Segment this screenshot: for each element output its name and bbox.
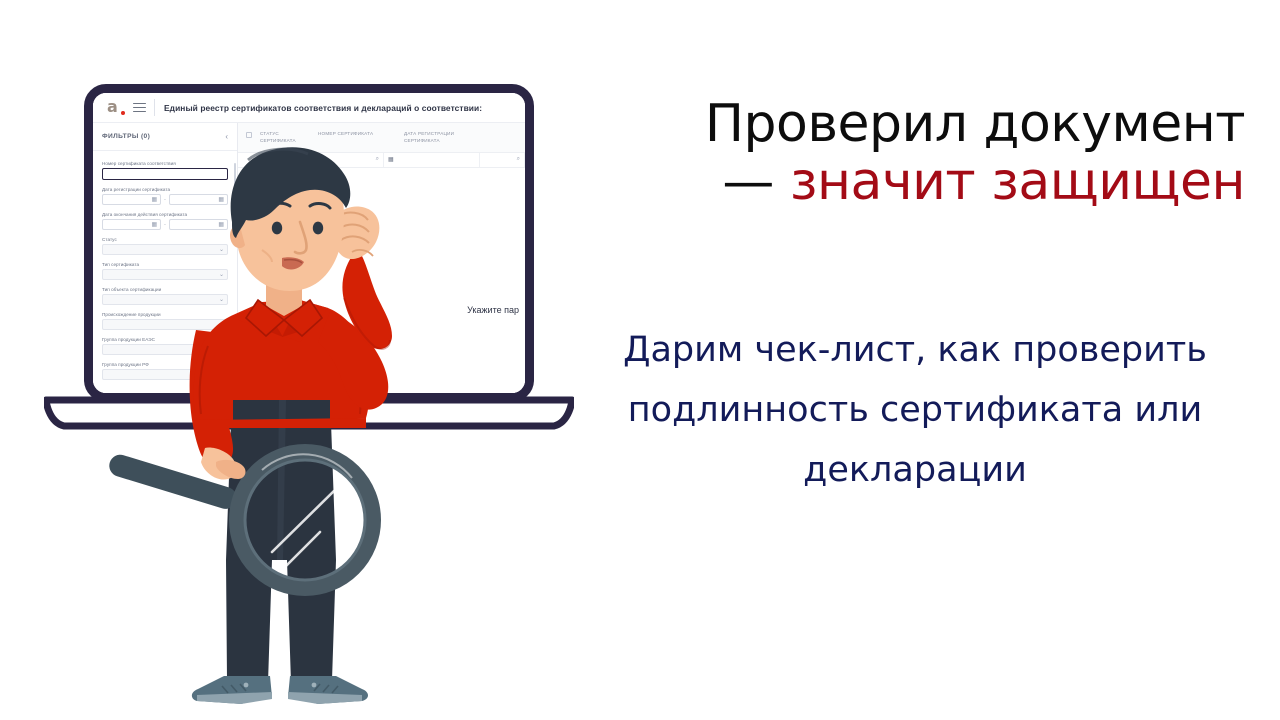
shoes [192, 676, 368, 704]
promo-title-accent: значит защищен [790, 152, 1245, 212]
laptop-illustration: a Единый реестр сертификатов соответстви… [0, 0, 600, 720]
promo-subtitle: Дарим чек-лист, как проверить подлинност… [605, 320, 1225, 501]
promo-title-line1: Проверил документ [585, 96, 1245, 154]
promo-title-dash: — [722, 152, 774, 212]
head [230, 147, 350, 291]
promo-title: Проверил документ — значит защищен [585, 96, 1245, 211]
promo-slide: a Единый реестр сертификатов соответстви… [0, 0, 1280, 720]
promo-copy: Проверил документ — значит защищен Дарим… [585, 0, 1280, 720]
character-illustration [0, 0, 600, 720]
promo-title-line2: — значит защищен [585, 154, 1245, 212]
